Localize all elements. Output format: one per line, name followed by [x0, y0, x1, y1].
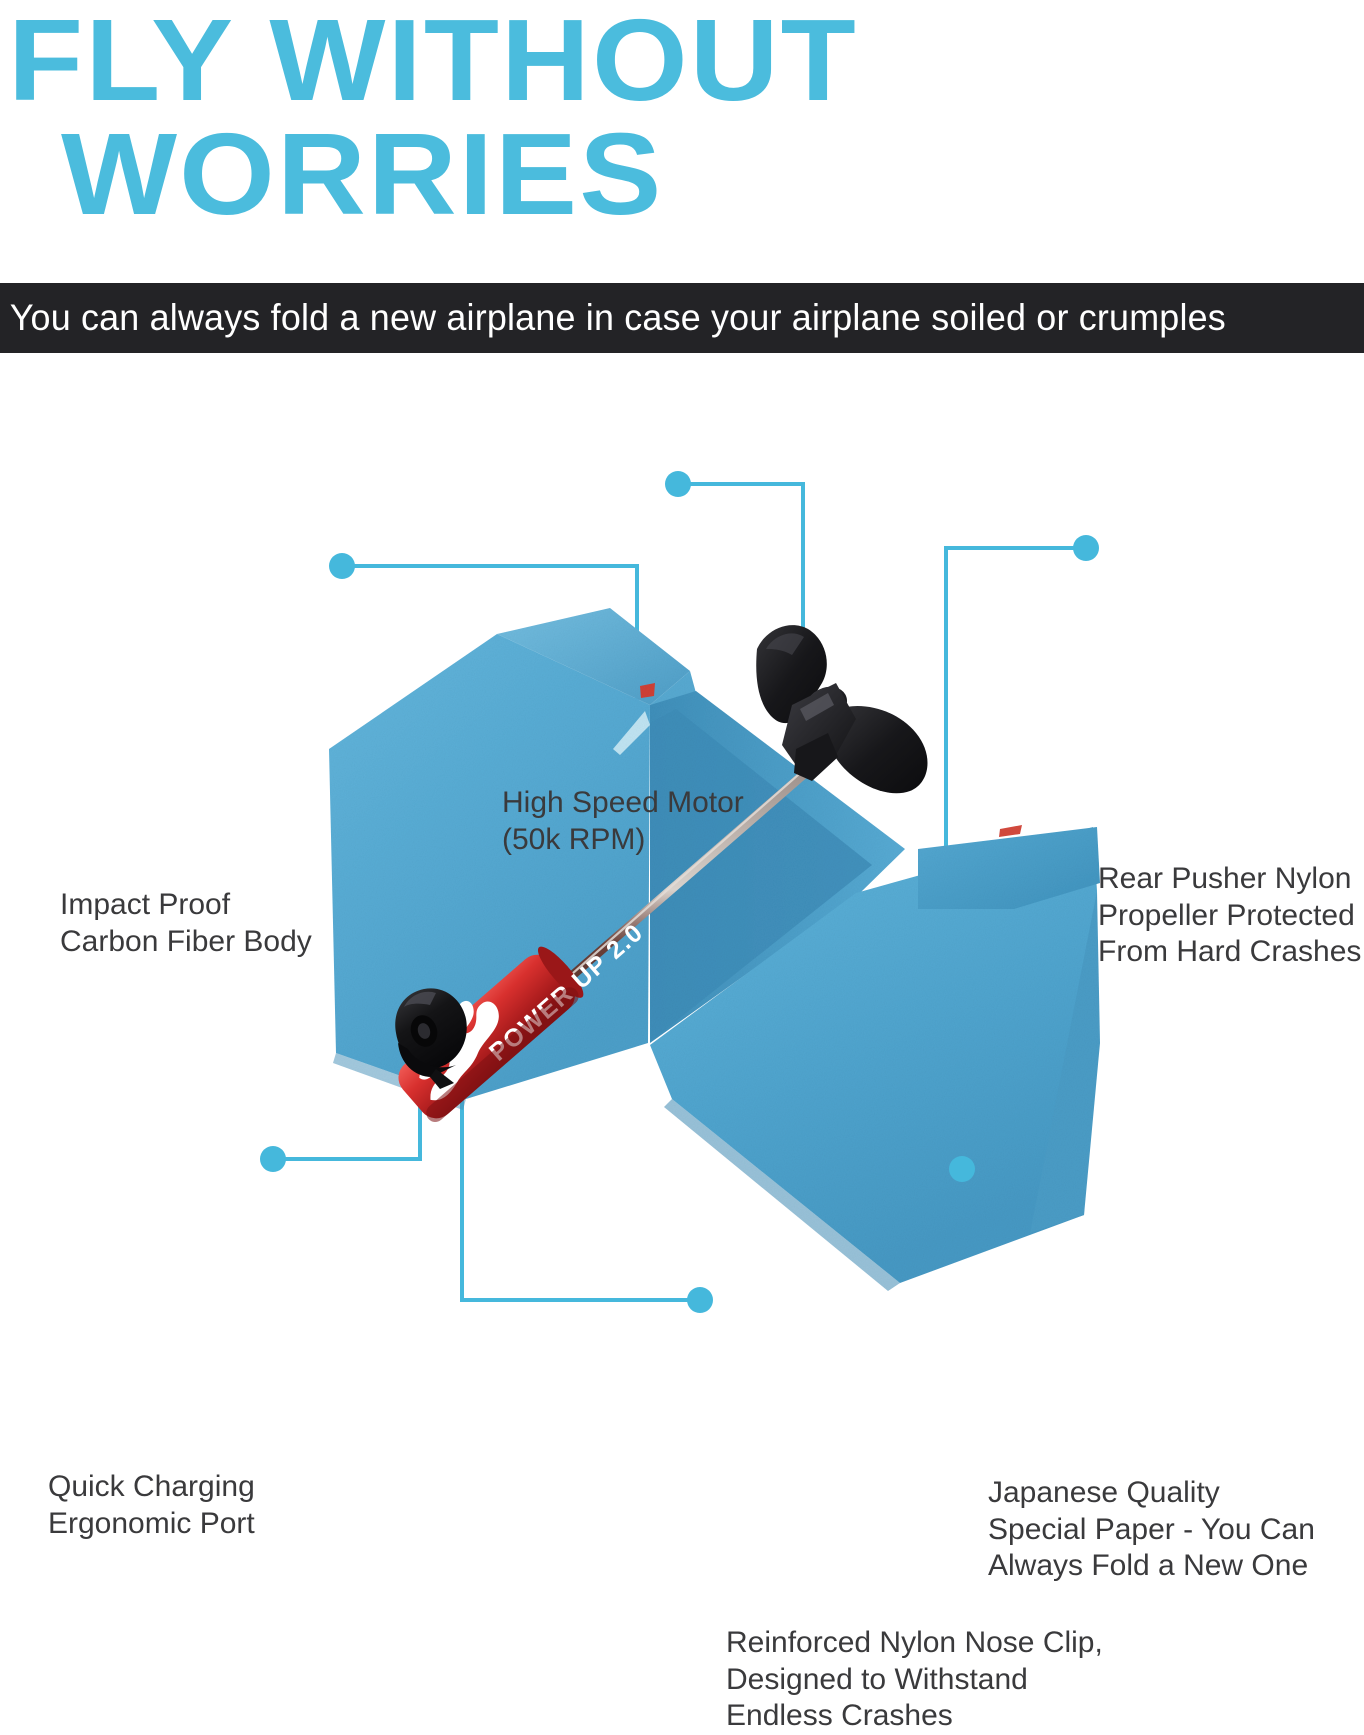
product-illustration: POWER UP 2.0: [0, 353, 1364, 1364]
leader-dot-motor: [665, 471, 691, 497]
callout-rear-propeller: Rear Pusher Nylon Propeller Protected Fr…: [1098, 861, 1361, 971]
leader-dot-propeller: [1073, 535, 1099, 561]
callout-line: Always Fold a New One: [988, 1548, 1315, 1585]
tagline-banner: You can always fold a new airplane in ca…: [0, 283, 1364, 353]
paper-airplane: [329, 608, 1100, 1291]
leader-dot-noseclip: [687, 1287, 713, 1313]
right-flap-red-mark: [999, 825, 1022, 837]
callout-japanese-paper: Japanese Quality Special Paper - You Can…: [988, 1475, 1315, 1585]
callout-carbon-fiber-body: Impact Proof Carbon Fiber Body: [60, 887, 312, 960]
callout-charging-port: Quick Charging Ergonomic Port: [48, 1469, 255, 1542]
headline-block: FLY WITHOUT WORRIES: [0, 0, 1364, 283]
headline-line-1: FLY WITHOUT: [8, 4, 1364, 118]
callout-line: (50k RPM): [502, 822, 744, 859]
callout-line: Japanese Quality: [988, 1475, 1315, 1512]
callout-line: High Speed Motor: [502, 785, 744, 822]
callout-line: Special Paper - You Can: [988, 1512, 1315, 1549]
product-diagram: POWER UP 2.0 High Speed Mot: [0, 353, 1364, 1364]
tagline-text: You can always fold a new airplane in ca…: [0, 297, 1226, 339]
callout-line: Propeller Protected: [1098, 898, 1361, 935]
callout-line: Carbon Fiber Body: [60, 924, 312, 961]
callout-nose-clip: Reinforced Nylon Nose Clip, Designed to …: [726, 1625, 1103, 1735]
callout-line: Rear Pusher Nylon: [1098, 861, 1361, 898]
callout-line: Endless Crashes: [726, 1698, 1103, 1735]
callout-line: Impact Proof: [60, 887, 312, 924]
callout-line: From Hard Crashes: [1098, 934, 1361, 971]
leader-dot-charging: [260, 1146, 286, 1172]
leader-dot-carbon-fiber: [329, 553, 355, 579]
callout-line: Quick Charging: [48, 1469, 255, 1506]
callout-high-speed-motor: High Speed Motor (50k RPM): [502, 785, 744, 858]
callout-line: Reinforced Nylon Nose Clip,: [726, 1625, 1103, 1662]
leader-propeller: [946, 548, 1076, 861]
leader-dot-paper: [949, 1156, 975, 1182]
callout-line: Designed to Withstand: [726, 1662, 1103, 1699]
callout-line: Ergonomic Port: [48, 1506, 255, 1543]
headline-line-2: WORRIES: [8, 118, 1364, 232]
